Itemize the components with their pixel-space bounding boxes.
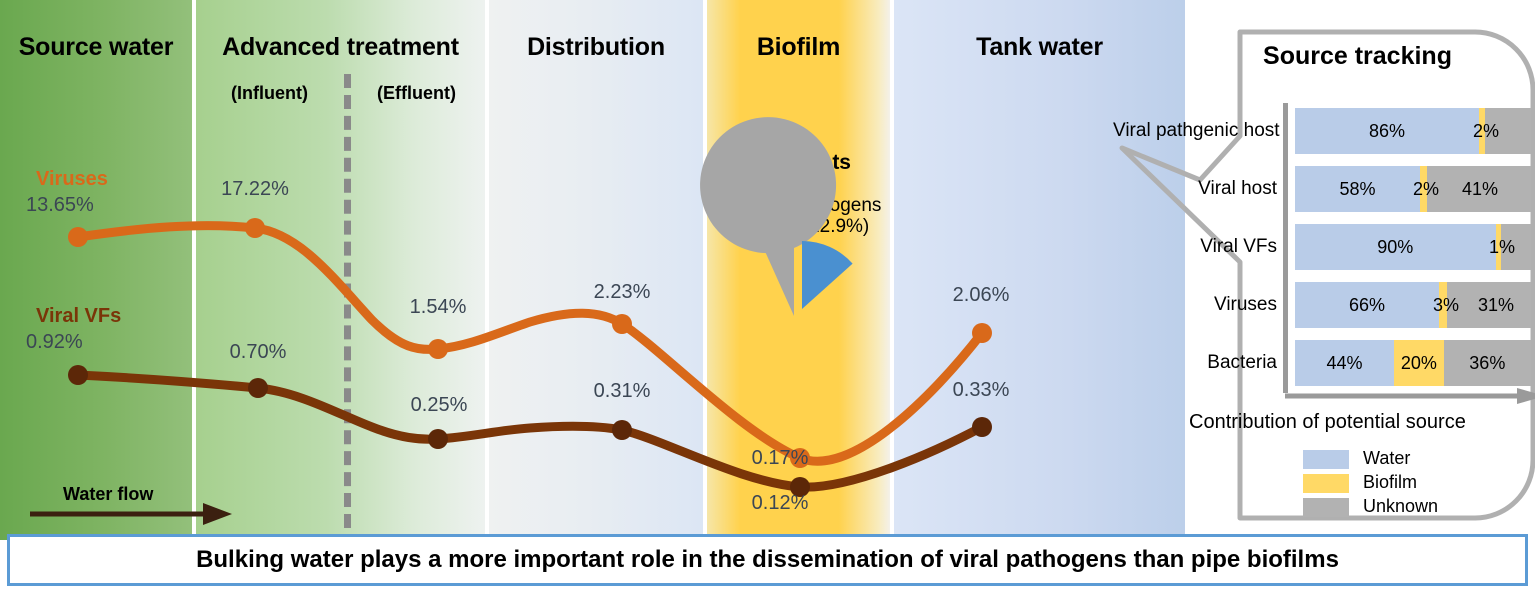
value-viruses-distribution: 2.23%	[564, 281, 680, 304]
source-tracking-callout: Source tracking Viral pathgenic host 86%…	[1120, 20, 1535, 530]
value-viruses-source-water: 13.65%	[26, 194, 94, 217]
st-seg-biofilm-4: 20%	[1394, 340, 1444, 386]
st-seg-water-0: 86%	[1295, 108, 1479, 154]
value-viral-vfs-tank-water: 0.33%	[923, 379, 1039, 402]
st-row-label-viral-pathgenic-host: Viral pathgenic host	[1113, 120, 1277, 142]
value-viral-vfs-biofilm: 0.12%	[722, 492, 838, 515]
source-tracking-title: Source tracking	[1185, 42, 1530, 71]
legend-label-biofilm: Biofilm	[1363, 472, 1417, 493]
datapoint-viruses-tank-water	[972, 323, 992, 343]
source-tracking-panel: Source tracking Viral pathgenic host 86%…	[1185, 20, 1535, 518]
source-tracking-y-axis	[1283, 103, 1288, 393]
line-chart	[0, 0, 1185, 540]
value-viruses-influent: 17.22%	[195, 178, 315, 201]
pie-slice-pathogens	[802, 241, 853, 309]
st-seg-unknown-label-3: 31%	[1478, 295, 1514, 316]
value-viruses-biofilm: 0.17%	[722, 447, 838, 470]
st-seg-unknown-4: 36%	[1444, 340, 1531, 386]
source-tracking-axis-caption: Contribution of potential source	[1189, 411, 1466, 434]
st-seg-water-4: 44%	[1295, 340, 1394, 386]
value-viral-vfs-influent: 0.70%	[200, 341, 316, 364]
datapoint-viral-vfs-distribution	[612, 420, 632, 440]
conclusion-banner-text: Bulking water plays a more important rol…	[196, 546, 1339, 574]
st-seg-unknown-label-0: 2%	[1473, 121, 1499, 142]
datapoint-viruses-source-water	[68, 227, 88, 247]
value-viral-vfs-distribution: 0.31%	[564, 380, 680, 403]
value-viruses-tank-water: 2.06%	[923, 284, 1039, 307]
st-bar-bacteria: 44% 20% 36%	[1295, 340, 1531, 386]
conclusion-banner: Bulking water plays a more important rol…	[7, 534, 1528, 586]
datapoint-viruses-effluent	[428, 339, 448, 359]
legend-swatch-water	[1303, 450, 1349, 469]
st-seg-unknown-label-1: 41%	[1462, 179, 1498, 200]
series-label-viruses: Viruses	[36, 168, 108, 191]
line-series-viral-vfs	[78, 375, 982, 487]
st-seg-unknown-label-2: 1%	[1489, 237, 1515, 258]
datapoint-viral-vfs-effluent	[428, 429, 448, 449]
st-row-label-viral-vfs: Viral VFs	[1113, 236, 1277, 258]
st-seg-water-1: 58%	[1295, 166, 1420, 212]
source-tracking-x-axis-arrow-icon	[1283, 390, 1535, 410]
st-row-label-bacteria: Bacteria	[1113, 352, 1277, 374]
legend-swatch-biofilm	[1303, 474, 1349, 493]
datapoint-viruses-distribution	[612, 314, 632, 334]
datapoint-viral-vfs-source-water	[68, 365, 88, 385]
value-viral-vfs-source-water: 0.92%	[26, 331, 83, 354]
st-seg-biofilm-label-3: 3%	[1433, 295, 1459, 316]
legend-label-unknown: Unknown	[1363, 496, 1438, 517]
datapoint-viral-vfs-influent	[248, 378, 268, 398]
datapoint-viral-vfs-tank-water	[972, 417, 992, 437]
st-row-label-viruses: Viruses	[1113, 294, 1277, 316]
value-viruses-effluent: 1.54%	[380, 296, 496, 319]
series-label-viral-vfs: Viral VFs	[36, 305, 121, 328]
st-seg-water-3: 66%	[1295, 282, 1439, 328]
datapoint-viruses-influent	[245, 218, 265, 238]
viral-hosts-pie-chart	[718, 240, 878, 386]
value-viral-vfs-effluent: 0.25%	[381, 394, 497, 417]
st-row-label-viral-host: Viral host	[1113, 178, 1277, 200]
water-flow-arrow-icon	[28, 500, 236, 528]
legend-label-water: Water	[1363, 448, 1410, 469]
legend-swatch-unknown	[1303, 498, 1349, 517]
figure-root: Source water Advanced treatment (Influen…	[0, 0, 1535, 591]
st-seg-water-2: 90%	[1295, 224, 1496, 270]
st-seg-biofilm-label-1: 2%	[1413, 179, 1439, 200]
